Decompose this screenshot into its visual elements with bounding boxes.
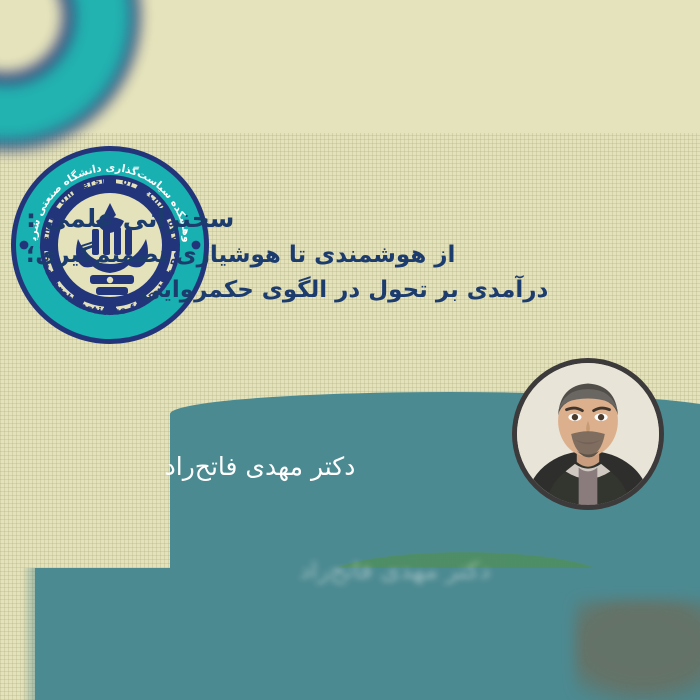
teal-band-left-fade — [22, 568, 52, 700]
headline-line-2: از هوشمندی تا هوشیاری تصمیم‌گیری؛ — [18, 238, 682, 273]
headline-line-3: درآمدی بر تحول در الگوی حکمروایی — [18, 273, 682, 308]
headline-line-1: سخنرانی علمی : — [18, 200, 682, 238]
speaker-portrait — [512, 358, 664, 510]
headline-block: سخنرانی علمی : از هوشمندی تا هوشیاری تصم… — [18, 200, 682, 308]
lecture-poster: پژوهشکده سیاست‌گذاری دانشگاه صنعتی شریف … — [0, 0, 700, 700]
speaker-name: دکتر مهدی فاتح‌راد — [0, 452, 520, 481]
brown-blur-blob — [575, 600, 700, 700]
speaker-name-ghost: دکتر مهدی فاتح‌راد — [180, 557, 610, 584]
